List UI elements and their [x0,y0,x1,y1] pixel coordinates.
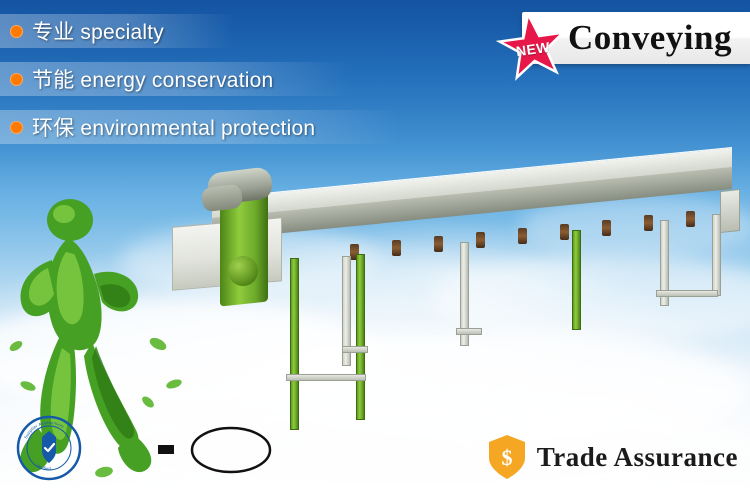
belt-conveyor-product [160,160,740,440]
conveyor-roller [602,220,611,236]
conveyor-roller [476,232,485,248]
conveyor-leg [572,230,581,330]
title-block: NEW Conveying [522,10,750,66]
bullet-icon [10,73,23,86]
conveyor-roller [518,228,527,244]
new-badge-label: NEW [489,7,577,91]
feature-item-specialty: 专业 specialty [0,14,235,48]
bullet-icon [10,121,23,134]
trade-assurance-label: Trade Assurance [537,442,738,473]
badge-label-bottom: Verified [36,462,52,471]
feature-item-label: 专业 specialty [32,16,164,46]
feature-list: 专业 specialty 节能 energy conservation 环保 e… [0,14,420,158]
conveyor-end-housing [720,189,740,233]
shield-icon: $ [487,434,527,480]
conveyor-roller [434,236,443,252]
conveyor-roller [392,240,401,256]
ce-mark-icon [98,424,178,476]
page-title: Conveying [568,18,732,58]
ccc-mark-icon [190,426,272,474]
conveyor-leg [356,254,365,420]
conveyor-crossbar [286,374,366,381]
conveyor-leg [712,214,721,296]
conveyor-roller [644,215,653,231]
conveyor-roller [686,211,695,227]
banner-image: 专业 specialty 节能 energy conservation 环保 e… [0,0,750,490]
feature-item-label: 环保 environmental protection [32,112,315,142]
svg-text:$: $ [501,445,512,470]
feature-item-energy-conservation: 节能 energy conservation [0,62,350,96]
bullet-icon [10,25,23,38]
conveyor-leg [290,258,299,430]
title-bar: NEW Conveying [522,12,750,64]
feature-item-environmental-protection: 环保 environmental protection [0,110,400,144]
supplier-assessment-badge: Supplier Assessment Verified [16,415,82,481]
conveyor-roller [560,224,569,240]
svg-text:Verified: Verified [36,462,52,471]
conveyor-drive-pulley [228,256,258,286]
conveyor-crossbar [456,328,482,335]
conveyor-crossbar [342,346,368,353]
trade-assurance-block: $ Trade Assurance [487,434,738,480]
feature-item-label: 节能 energy conservation [32,64,273,94]
conveyor-crossbar [656,290,718,297]
